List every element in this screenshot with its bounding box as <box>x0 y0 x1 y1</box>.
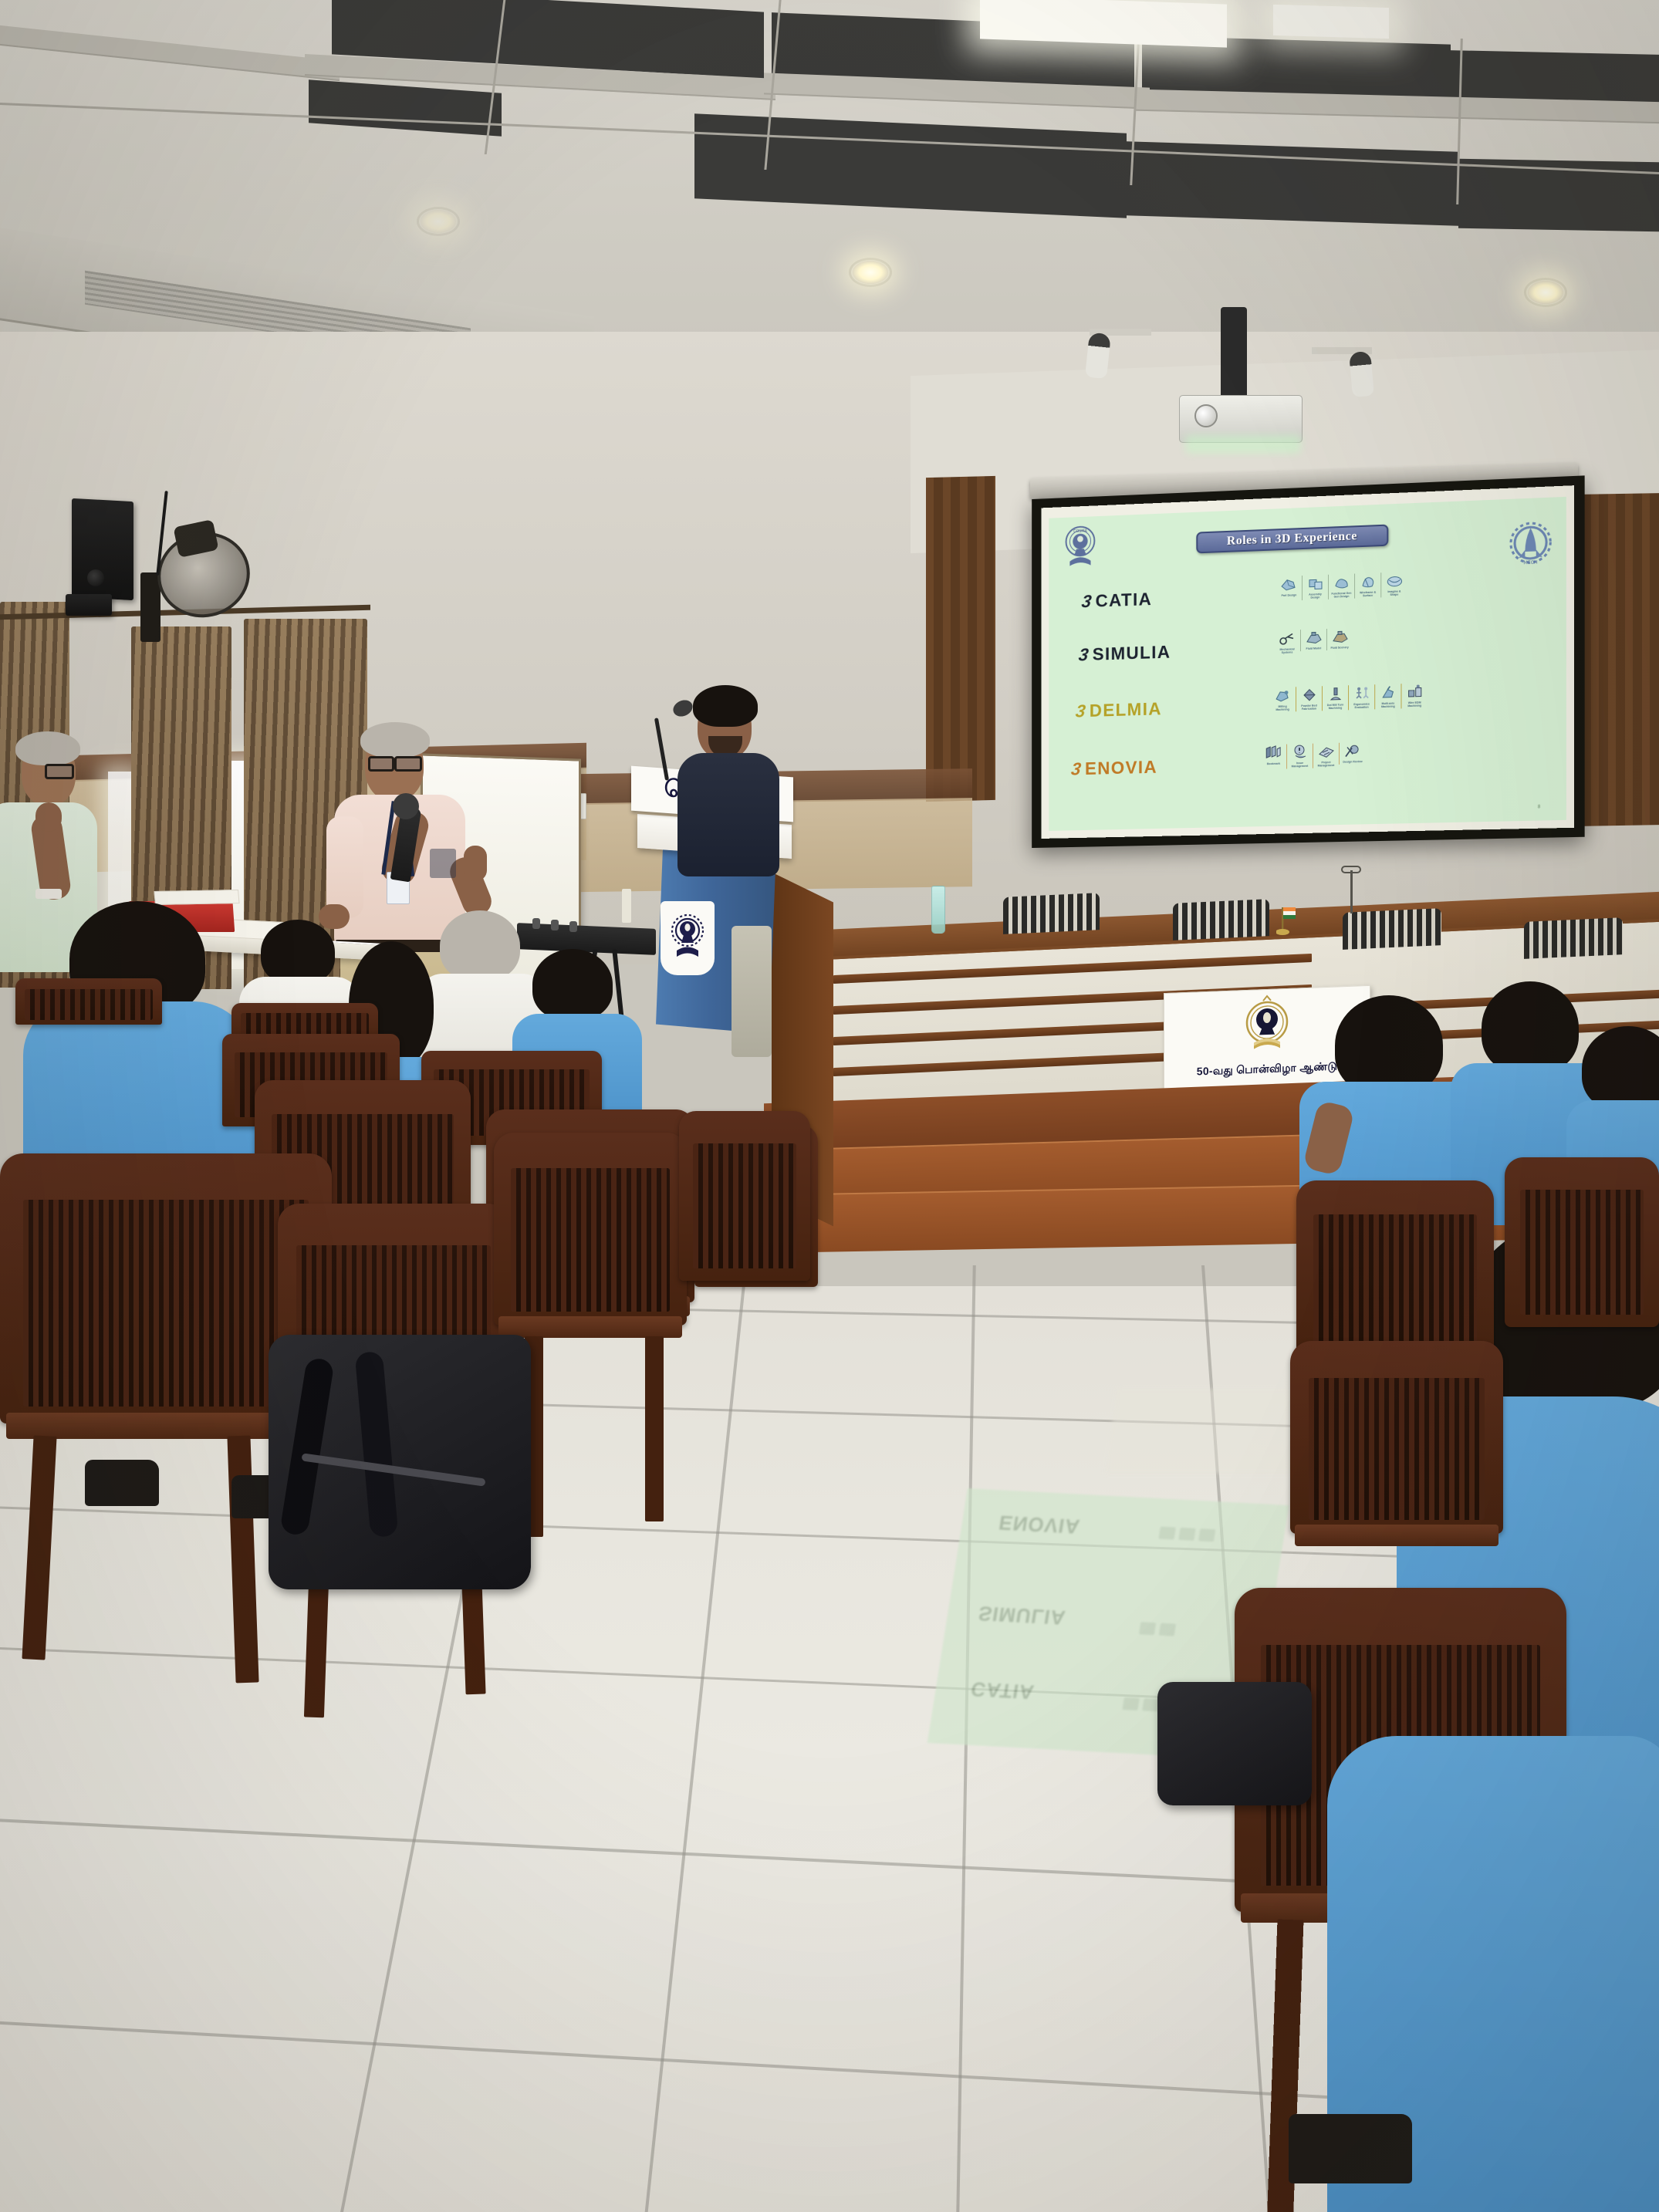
svg-text:MECH: MECH <box>1523 560 1537 566</box>
imagine-and-shape-icon <box>1384 572 1404 589</box>
presentation-slide[interactable]: COSMA MECH Roles in 3D Experience <box>1049 497 1566 831</box>
slide-title-bar: Roles in 3D Experience <box>1196 525 1388 554</box>
role-cell-assembly-design[interactable]: Assembly Design <box>1302 575 1328 600</box>
ds-mark-icon: 3 <box>1069 758 1083 779</box>
milling-machining-icon <box>1272 687 1292 704</box>
reflection-icon <box>1198 1528 1215 1542</box>
role-label: Wire EDM Machining <box>1404 701 1426 708</box>
role-label: Multi-axis Machining <box>1377 702 1400 709</box>
brand-row-simulia: 3SIMULIA <box>1079 642 1171 666</box>
candle-holder <box>622 889 631 923</box>
powder-bed-fabrication-icon <box>1299 686 1319 704</box>
spot-light <box>1349 351 1374 397</box>
role-cell-milling-machining[interactable]: Milling Machining <box>1269 687 1296 712</box>
downlight <box>421 210 456 233</box>
role-cell-powder-bed-fabrication[interactable]: Powder Bed Fabrication <box>1296 686 1322 711</box>
role-label: Wireframe & Surface <box>1357 591 1379 598</box>
role-cell-imagine-shape[interactable]: Imagine & Shape <box>1380 572 1407 597</box>
issue-management-icon <box>1290 744 1310 762</box>
brand-logo-enovia: 3ENOVIA <box>1071 757 1157 779</box>
hair <box>1482 981 1579 1074</box>
hair <box>360 722 430 758</box>
role-label: Issue Management <box>1289 762 1310 769</box>
shoe <box>1289 2114 1412 2183</box>
role-label: Dot Mill Turn Machining <box>1324 704 1346 711</box>
shoe <box>85 1460 159 1506</box>
role-cell-multi-axis-machining[interactable]: Multi-axis Machining <box>1374 684 1401 709</box>
chair-slats <box>1520 1190 1644 1315</box>
chair-rail <box>498 1316 682 1338</box>
floor-bag[interactable] <box>1157 1682 1312 1805</box>
wire-edm-machining-icon <box>1404 683 1424 701</box>
institute-emblem-icon <box>1237 994 1297 1062</box>
hair <box>440 910 520 981</box>
brand-row-enovia: 3ENOVIA <box>1071 757 1157 779</box>
role-label: Assembly Design <box>1304 593 1326 600</box>
chair-slats <box>23 1200 309 1407</box>
hair <box>15 731 80 765</box>
role-icon-strip-delmia: Milling Machining Powder Bed Fabrication… <box>1269 683 1428 712</box>
brand-name-delmia: DELMIA <box>1090 698 1162 720</box>
mixer-knob[interactable] <box>551 920 559 930</box>
role-label: Mechanical Systems <box>1276 648 1298 655</box>
hand <box>35 802 62 832</box>
hair <box>532 949 613 1020</box>
mechanical-systems-icon <box>1277 630 1297 647</box>
slide-title: Roles in 3D Experience <box>1227 529 1357 549</box>
dais-chair[interactable] <box>1173 899 1269 941</box>
role-label: Design Review <box>1343 761 1362 765</box>
projector-mount-arm <box>1221 307 1247 404</box>
eyeglasses <box>45 764 74 779</box>
bookmark-icon <box>1263 745 1283 762</box>
brand-name-simulia: SIMULIA <box>1093 642 1171 664</box>
gear-rocket-logo: MECH <box>1506 516 1556 569</box>
brand-name-catia: CATIA <box>1096 589 1153 610</box>
role-label: Fluid Model <box>1306 647 1322 651</box>
role-label: Powder Bed Fabrication <box>1298 704 1319 711</box>
reflection-line: CATIA <box>969 1677 1036 1704</box>
brand-logo-delmia: 3DELMIA <box>1076 698 1162 721</box>
dais-chair[interactable] <box>1343 908 1441 950</box>
chair-slats <box>693 1143 796 1268</box>
brand-row-delmia: 3DELMIA <box>1076 698 1162 721</box>
role-cell-mechanical-systems[interactable]: Mechanical Systems <box>1274 630 1300 655</box>
chair-rail <box>1295 1525 1499 1546</box>
reflection-icon <box>1122 1697 1139 1711</box>
wood-wall-panel <box>1574 493 1659 826</box>
functional-generative-design-icon <box>1331 574 1351 592</box>
ds-mark-icon: 3 <box>1077 644 1090 665</box>
papers-stack <box>154 890 239 905</box>
chair-slats <box>1309 1378 1485 1520</box>
dais-chair[interactable] <box>1524 917 1623 959</box>
role-cell-issue-management[interactable]: Issue Management <box>1286 744 1313 769</box>
svg-text:COSMA: COSMA <box>1073 529 1087 534</box>
role-label: Project Management <box>1315 762 1336 768</box>
anniversary-banner-text: 50-வது பொன்விழா ஆண்டு <box>1197 1059 1337 1079</box>
role-label: Bookmark <box>1267 763 1280 767</box>
institute-crest-logo: COSMA <box>1059 522 1101 571</box>
reflection-icon <box>1159 1623 1176 1636</box>
wireframe-surface-icon <box>1358 572 1378 590</box>
chair-leg <box>645 1336 664 1521</box>
brand-logo-catia: 3CATIA <box>1082 589 1152 612</box>
chair-slats <box>25 989 153 1020</box>
role-icon-strip-enovia: Bookmark Issue Management Project Manage… <box>1260 742 1365 769</box>
role-cell-part-design[interactable]: Part Design <box>1276 576 1302 598</box>
role-cell-fluid-model[interactable]: Fluid Model <box>1300 629 1326 651</box>
ds-mark-icon: 3 <box>1080 591 1093 612</box>
role-label: Imagine & Shape <box>1384 590 1406 597</box>
role-cell-functional-generative-design[interactable]: Functional Gen Gen Design <box>1328 574 1354 599</box>
reflection-icon <box>1139 1622 1156 1635</box>
reflection-line: ENOVIA <box>997 1511 1082 1539</box>
wristwatch <box>35 889 62 899</box>
role-cell-bookmark[interactable]: Bookmark <box>1260 745 1286 767</box>
hand <box>464 846 487 881</box>
podium-speaker-trousers <box>732 926 772 1057</box>
mixer-knob[interactable] <box>532 918 540 929</box>
torso <box>677 753 779 876</box>
chair-slats <box>511 1168 670 1312</box>
brand-name-enovia: ENOVIA <box>1085 757 1157 778</box>
assembly-design-icon <box>1305 575 1325 593</box>
hair <box>1335 995 1443 1096</box>
speaker-cone <box>87 569 104 586</box>
role-cell-project-management[interactable]: Project Management <box>1313 743 1339 768</box>
dais-chair[interactable] <box>1003 893 1100 934</box>
projector-light-glow <box>1185 435 1301 454</box>
project-management-icon <box>1316 743 1336 761</box>
role-label: Ergonomics Evaluation <box>1350 703 1372 710</box>
shirt-pocket <box>430 849 456 878</box>
design-review-icon <box>1343 742 1363 760</box>
arm <box>326 816 363 918</box>
hair <box>693 685 758 727</box>
role-label: Milling Machining <box>1271 705 1293 712</box>
brand-row-catia: 3CATIA <box>1082 589 1152 612</box>
microphone-head <box>393 793 419 819</box>
role-cell-wire-edm-machining[interactable]: Wire EDM Machining <box>1401 683 1427 708</box>
institute-emblem-icon <box>665 909 710 968</box>
reflection-icon <box>1178 1528 1195 1541</box>
role-label: Part Design <box>1281 594 1296 598</box>
reflection-icon-row <box>1139 1622 1176 1636</box>
table-flag <box>1276 900 1303 939</box>
role-cell-fluid-scenery[interactable]: Fluid Scenery <box>1326 628 1353 650</box>
ergonomics-evaluation-icon <box>1352 684 1372 702</box>
multi-axis-machining-icon <box>1378 684 1398 701</box>
eyeglasses <box>394 756 422 772</box>
hair <box>261 920 335 984</box>
mic-stand <box>1350 870 1353 914</box>
role-cell-mill-turn-machining[interactable]: Dot Mill Turn Machining <box>1322 685 1348 711</box>
ds-mark-icon: 3 <box>1074 701 1087 721</box>
reflection-line: SIMULIA <box>977 1601 1068 1629</box>
wall-speaker <box>72 498 133 600</box>
mill-turn-machining-icon <box>1325 685 1345 703</box>
projector-lens-icon <box>1194 404 1218 427</box>
role-cell-design-review[interactable]: Design Review <box>1339 742 1365 765</box>
wood-wall-panel <box>926 476 995 802</box>
podium-emblem <box>661 901 715 975</box>
slide-page-number: 8 <box>1538 805 1540 809</box>
brand-logo-simulia: 3SIMULIA <box>1079 642 1171 666</box>
eyeglasses <box>368 756 394 772</box>
role-icon-strip-simulia: Mechanical Systems Fluid Model Fluid Sce… <box>1274 628 1353 655</box>
role-cell-ergonomics-evaluation[interactable]: Ergonomics Evaluation <box>1348 684 1374 710</box>
seminar-hall-photograph: COSMA MECH Roles in 3D Experience <box>0 0 1659 2212</box>
fluid-model-icon <box>1303 629 1323 647</box>
projection-screen-surface[interactable]: COSMA MECH Roles in 3D Experience <box>1042 485 1575 839</box>
role-icon-strip-catia: Part Design Assembly Design Functional G… <box>1276 572 1407 601</box>
water-bottle[interactable] <box>931 886 945 934</box>
wall-speaker-mount <box>66 594 112 616</box>
fluid-scenery-icon <box>1330 628 1350 646</box>
part-design-icon <box>1279 576 1299 593</box>
chair-slats <box>1313 1214 1477 1344</box>
hand <box>319 904 350 929</box>
role-label: Functional Gen Gen Design <box>1330 593 1352 599</box>
mic-stand-head <box>1341 866 1361 873</box>
downlight <box>853 261 888 284</box>
ceiling-skylight-panel <box>1273 5 1389 39</box>
role-label: Fluid Scenery <box>1331 647 1349 650</box>
reflection-icon <box>1158 1527 1175 1540</box>
mixer-knob[interactable] <box>569 921 577 932</box>
reflection-icon-row <box>1158 1527 1215 1542</box>
downlight <box>1528 281 1563 304</box>
role-cell-wireframe-surface[interactable]: Wireframe & Surface <box>1354 572 1380 598</box>
